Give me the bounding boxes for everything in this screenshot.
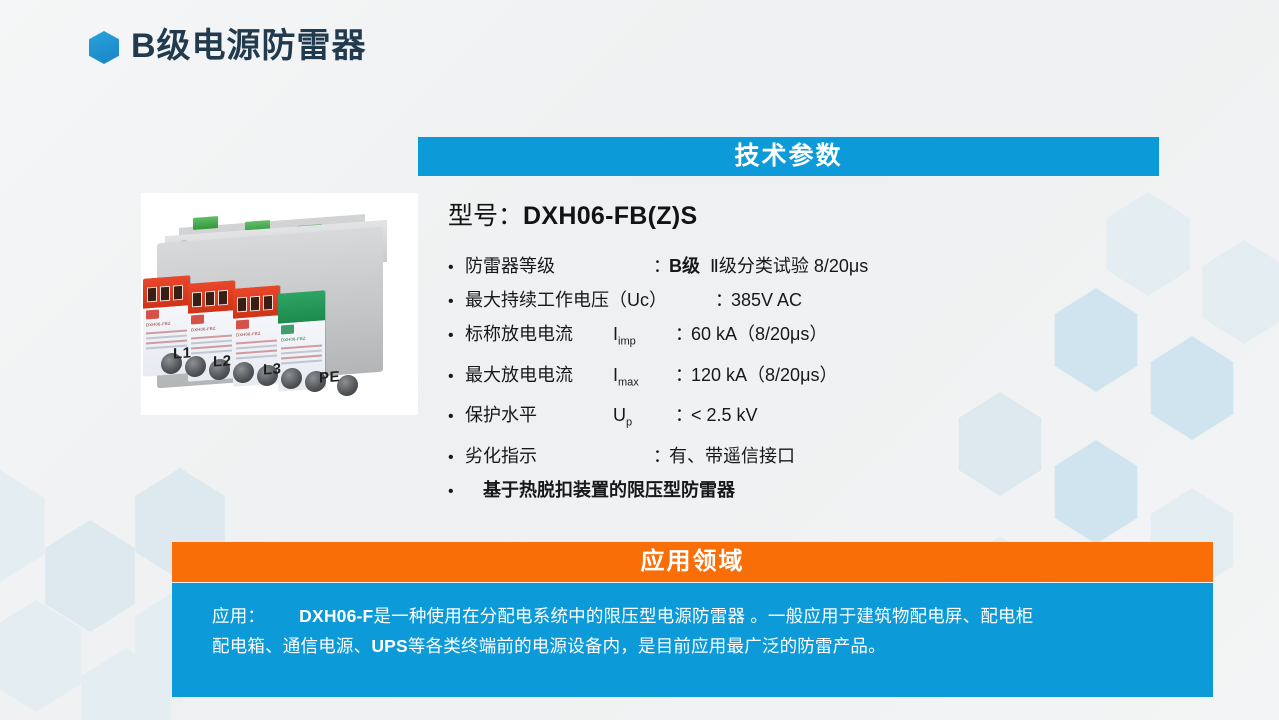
page-title: B级电源防雷器: [131, 20, 367, 72]
spec-name: 防雷器等级: [465, 250, 653, 283]
slide-canvas: B级电源防雷器 技术参数 N: [0, 0, 1279, 720]
spec-row-grade: • 防雷器等级 ： B级 Ⅱ级分类试验 8/20μs: [448, 250, 1148, 284]
tech-spec-list: 型号：DXH06-FB(Z)S • 防雷器等级 ： B级 Ⅱ级分类试验 8/20…: [448, 196, 1148, 508]
spec-row-note: • 基于热脱扣装置的限压型防雷器: [448, 474, 1148, 508]
application-ups: UPS: [371, 636, 408, 656]
application-model: DXH06-F: [299, 606, 373, 626]
surge-protector-illustration: N DXH06-FBZ: [141, 193, 418, 415]
spec-colon: ：: [715, 284, 731, 317]
spec-name: 劣化指示: [465, 440, 653, 473]
tech-params-header-bar: 技术参数: [418, 137, 1159, 176]
module-model-label: DXH06-FBZ: [146, 321, 171, 328]
spec-row-uc: • 最大持续工作电压（Uc） ： 385V AC: [448, 284, 1148, 318]
spec-symbol-sub: max: [618, 376, 639, 388]
spec-value: 120 kA（8/20μs）: [691, 359, 837, 392]
spec-row-indicator: • 劣化指示 ： 有、带遥信接口: [448, 440, 1148, 474]
application-line1: 是一种使用在分配电系统中的限压型电源防雷器 。一般应用于建筑物配电屏、配电柜: [373, 606, 1033, 626]
bullet-icon: •: [448, 319, 465, 352]
spec-name: 最大放电电流: [465, 359, 613, 392]
product-photo: N DXH06-FBZ: [141, 193, 418, 415]
application-line2-c: 等各类终端前的电源设备内，是目前应用最广泛的防雷产品。: [408, 636, 886, 656]
bullet-icon: •: [448, 441, 465, 474]
bullet-icon: •: [448, 285, 465, 318]
spec-symbol: Imax: [613, 359, 675, 400]
application-body-panel: 应用：DXH06-F是一种使用在分配电系统中的限压型电源防雷器 。一般应用于建筑…: [172, 583, 1213, 697]
module-model-label: DXH06-FBZ: [281, 336, 306, 343]
spec-symbol-sub: imp: [618, 336, 636, 348]
application-lead: 应用：: [212, 606, 265, 626]
spec-symbol: Up: [613, 399, 675, 440]
application-header-bar: 应用领域: [172, 542, 1213, 582]
spec-colon: ：: [675, 318, 691, 351]
phase-label-l2: L2: [213, 352, 232, 370]
bullet-icon: •: [448, 475, 465, 508]
phase-label-l1: L1: [173, 344, 192, 362]
application-text: 应用：DXH06-F是一种使用在分配电系统中的限压型电源防雷器 。一般应用于建筑…: [172, 583, 1213, 661]
wire-port: [337, 374, 358, 397]
spec-value: 385V AC: [731, 284, 802, 317]
spec-symbol: Iimp: [613, 318, 675, 359]
bullet-icon: •: [448, 360, 465, 393]
application-line2-a: 配电箱、通信电源、: [212, 636, 371, 656]
phase-label-pe: PE: [319, 368, 340, 387]
spec-name: 保护水平: [465, 399, 613, 432]
spec-value: B级 Ⅱ级分类试验 8/20μs: [669, 250, 868, 283]
spec-row-imax: • 最大放电电流 Imax ： 120 kA（8/20μs）: [448, 359, 1148, 400]
model-line: 型号：DXH06-FB(Z)S: [448, 196, 1148, 232]
spec-value: 有、带遥信接口: [669, 440, 795, 473]
module-model-label: DXH06-FBZ: [191, 326, 216, 333]
spec-name: 标称放电电流: [465, 318, 613, 351]
spec-name: 最大持续工作电压（Uc）: [465, 284, 715, 317]
spec-row-up: • 保护水平 Up ： < 2.5 kV: [448, 399, 1148, 440]
spec-value-bold: B级: [669, 256, 700, 276]
spec-value: < 2.5 kV: [691, 399, 758, 432]
spec-colon: ：: [675, 399, 691, 432]
application-header-label: 应用领域: [172, 542, 1213, 582]
spec-colon: ：: [653, 250, 669, 283]
terminal-block: [193, 216, 218, 230]
page-header: B级电源防雷器: [0, 0, 1279, 86]
phase-label-l3: L3: [263, 360, 282, 378]
hexagon-icon: [89, 31, 119, 64]
spec-value-rest: Ⅱ级分类试验 8/20μs: [710, 256, 868, 276]
module-model-label: DXH06-FBZ: [236, 331, 261, 338]
spec-row-iimp: • 标称放电电流 Iimp ： 60 kA（8/20μs）: [448, 318, 1148, 359]
bullet-icon: •: [448, 251, 465, 284]
spec-symbol-sub: p: [626, 417, 632, 429]
spec-colon: ：: [675, 359, 691, 392]
tech-params-header-label: 技术参数: [418, 137, 1159, 176]
spec-colon: ：: [653, 440, 669, 473]
spec-value: 60 kA（8/20μs）: [691, 318, 827, 351]
model-value: DXH06-FB(Z)S: [523, 202, 697, 230]
model-label: 型号：: [448, 202, 523, 230]
spec-name: 基于热脱扣装置的限压型防雷器: [465, 474, 735, 507]
spec-symbol-base: U: [613, 405, 626, 425]
bullet-icon: •: [448, 400, 465, 433]
